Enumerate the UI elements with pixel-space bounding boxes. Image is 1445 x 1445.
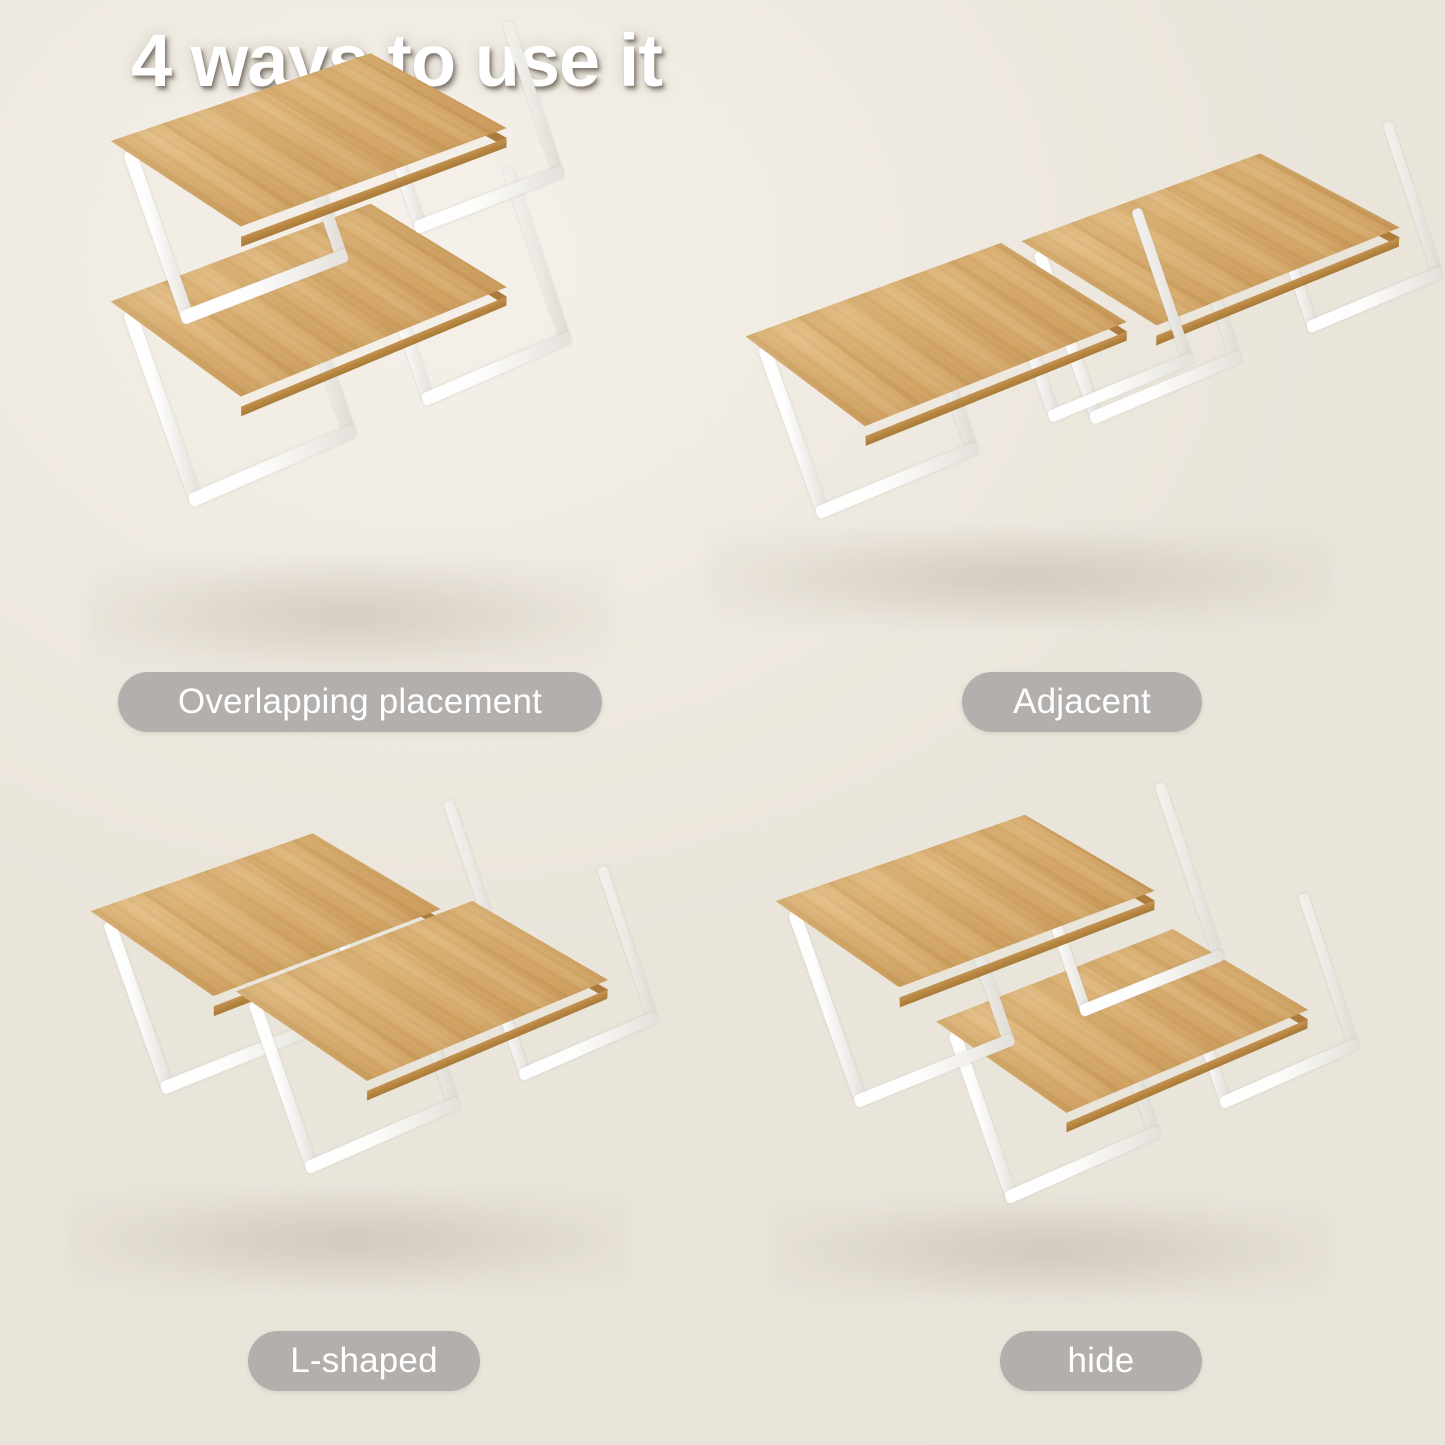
contact-shadow <box>770 1200 1330 1300</box>
leg-foot-bar <box>187 423 357 507</box>
product-illustration-adjacent <box>700 200 1445 740</box>
label-pill-text: Overlapping placement <box>178 682 542 722</box>
bamboo-shelf-top <box>111 213 507 407</box>
contact-shadow <box>90 560 610 670</box>
leg-foot-bar <box>814 441 979 520</box>
leg-foot-bar <box>1004 1125 1162 1205</box>
label-pill-hide[interactable]: hide <box>1000 1331 1202 1391</box>
product-illustration-hide <box>700 850 1445 1410</box>
label-pill-overlapping[interactable]: Overlapping placement <box>118 672 602 732</box>
leg-bar <box>1382 120 1441 275</box>
product-illustration-l-shaped <box>0 860 722 1400</box>
contact-shadow <box>70 1190 630 1290</box>
label-pill-l-shaped[interactable]: L-shaped <box>248 1331 480 1391</box>
config-panel-l-shaped <box>0 860 722 1400</box>
label-pill-text: Adjacent <box>1013 682 1151 722</box>
leg-foot-bar <box>420 331 572 407</box>
label-pill-text: L-shaped <box>290 1341 438 1381</box>
leg-foot-bar <box>413 165 565 235</box>
leg-foot-bar <box>304 1096 461 1174</box>
config-panel-overlapping <box>0 120 722 740</box>
product-illustration-overlapping <box>0 120 722 740</box>
label-pill-adjacent[interactable]: Adjacent <box>962 672 1202 732</box>
config-panel-adjacent <box>700 200 1445 740</box>
config-panel-hide <box>700 850 1445 1410</box>
slab-top-face <box>111 204 507 397</box>
contact-shadow <box>710 530 1330 625</box>
label-pill-text: hide <box>1068 1341 1135 1381</box>
